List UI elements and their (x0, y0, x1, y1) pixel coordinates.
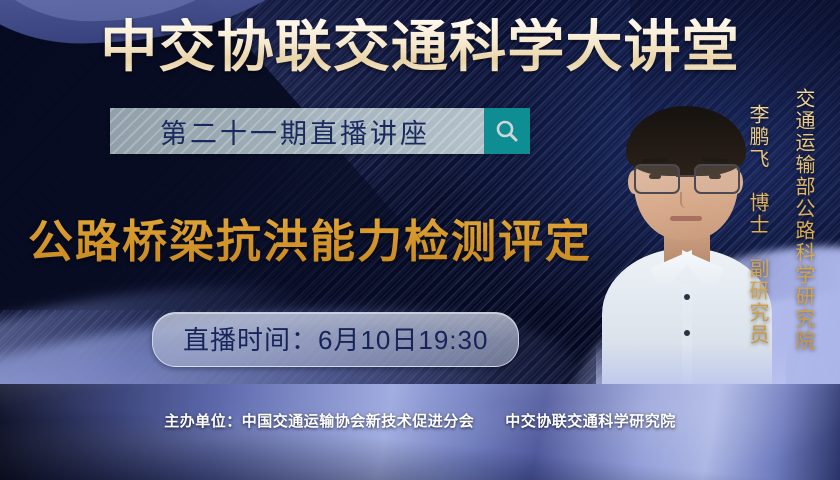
speaker-name-title: 李鹏飞 博士 副研究员 (743, 104, 772, 346)
glasses-icon (632, 164, 740, 190)
portrait-mouth (670, 216, 702, 221)
page-title: 中交协联交通科学大讲堂 (0, 18, 840, 77)
live-time-badge: 直播时间：6月10日19:30 (152, 312, 519, 367)
portrait-shirt-button-bottom (684, 330, 690, 336)
portrait-nose (680, 192, 692, 208)
portrait-shirt-button-top (684, 294, 690, 300)
footer-band: 主办单位：中国交通运输协会新技术促进分会 中交协联交通科学研究院 (0, 384, 840, 480)
episode-banner: 第二十一期直播讲座 (110, 108, 530, 154)
speaker-organization: 交通运输部公路科学研究院 (789, 88, 818, 352)
search-icon[interactable] (484, 108, 530, 154)
lecture-topic: 公路桥梁抗洪能力检测评定 (28, 205, 592, 270)
organizer-text: 主办单位：中国交通运输协会新技术促进分会 中交协联交通科学研究院 (0, 410, 840, 431)
poster-canvas: 中交协联交通科学大讲堂 第二十一期直播讲座 公路桥梁抗洪能力检测评定 直播时间：… (0, 0, 840, 480)
episode-label: 第二十一期直播讲座 (110, 112, 484, 151)
speaker-portrait (612, 108, 762, 398)
footer-sheen (0, 384, 840, 480)
